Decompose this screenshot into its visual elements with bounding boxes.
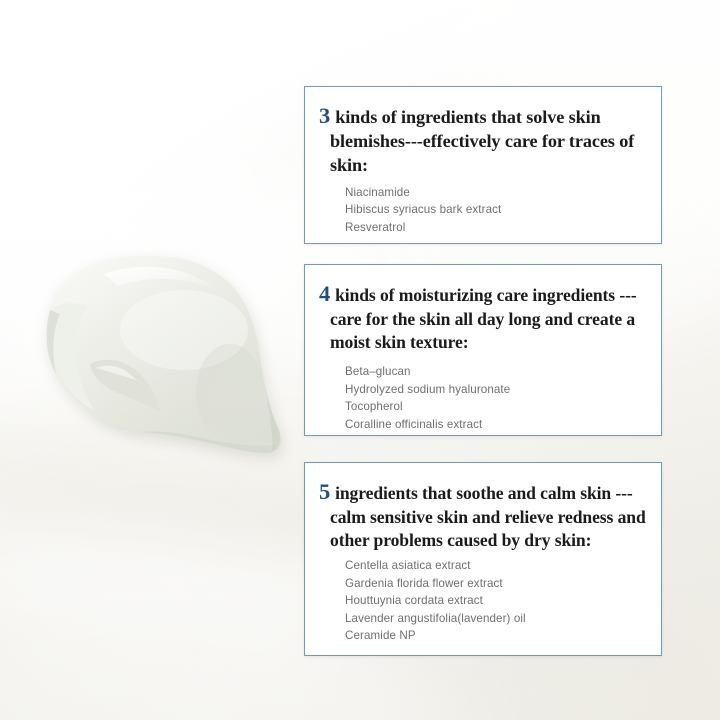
ingredient-box-3-number: 5: [319, 479, 331, 504]
ingredient-box-1: 3 kinds of ingredients that solve skin b…: [304, 86, 662, 244]
ingredient-box-2-content: 4 kinds of moisturizing care ingredients…: [305, 265, 661, 443]
product-ingredient-infographic: 3 kinds of ingredients that solve skin b…: [0, 0, 720, 720]
ingredient-box-3-heading: 5 ingredients that soothe and calm skin …: [319, 477, 649, 552]
list-item: Beta–glucan: [345, 363, 649, 381]
ingredient-box-2-list: Beta–glucan Hydrolyzed sodium hyaluronat…: [319, 363, 649, 433]
list-item: Niacinamide: [345, 184, 649, 202]
list-item: Hibiscus syriacus bark extract: [345, 201, 649, 219]
ingredient-box-3: 5 ingredients that soothe and calm skin …: [304, 462, 662, 656]
list-item: Tocopherol: [345, 398, 649, 416]
list-item: Hydrolyzed sodium hyaluronate: [345, 381, 649, 399]
list-item: Gardenia florida flower extract: [345, 575, 649, 593]
ingredient-box-1-heading: 3 kinds of ingredients that solve skin b…: [319, 101, 649, 178]
list-item: Coralline officinalis extract: [345, 416, 649, 434]
list-item: Houttuynia cordata extract: [345, 592, 649, 610]
ingredient-box-3-content: 5 ingredients that soothe and calm skin …: [305, 463, 661, 655]
ingredient-box-2-heading-text: kinds of moisturizing care ingredients -…: [330, 285, 637, 352]
ingredient-box-3-heading-text: ingredients that soothe and calm skin --…: [330, 483, 646, 550]
ingredient-box-1-heading-text: kinds of ingredients that solve skin ble…: [330, 107, 634, 175]
list-item: Lavender angustifolia(lavender) oil: [345, 610, 649, 628]
list-item: Ceramide NP: [345, 627, 649, 645]
ingredient-box-3-list: Centella asiatica extract Gardenia flori…: [319, 557, 649, 645]
ingredient-box-2-number: 4: [319, 281, 331, 306]
ingredient-box-1-list: Niacinamide Hibiscus syriacus bark extra…: [319, 184, 649, 237]
cream-swatch: [34, 252, 302, 464]
ingredient-box-2: 4 kinds of moisturizing care ingredients…: [304, 264, 662, 436]
ingredient-box-1-content: 3 kinds of ingredients that solve skin b…: [305, 87, 661, 246]
list-item: Centella asiatica extract: [345, 557, 649, 575]
list-item: Resveratrol: [345, 219, 649, 237]
ingredient-box-1-number: 3: [319, 103, 331, 128]
ingredient-box-2-heading: 4 kinds of moisturizing care ingredients…: [319, 279, 649, 354]
